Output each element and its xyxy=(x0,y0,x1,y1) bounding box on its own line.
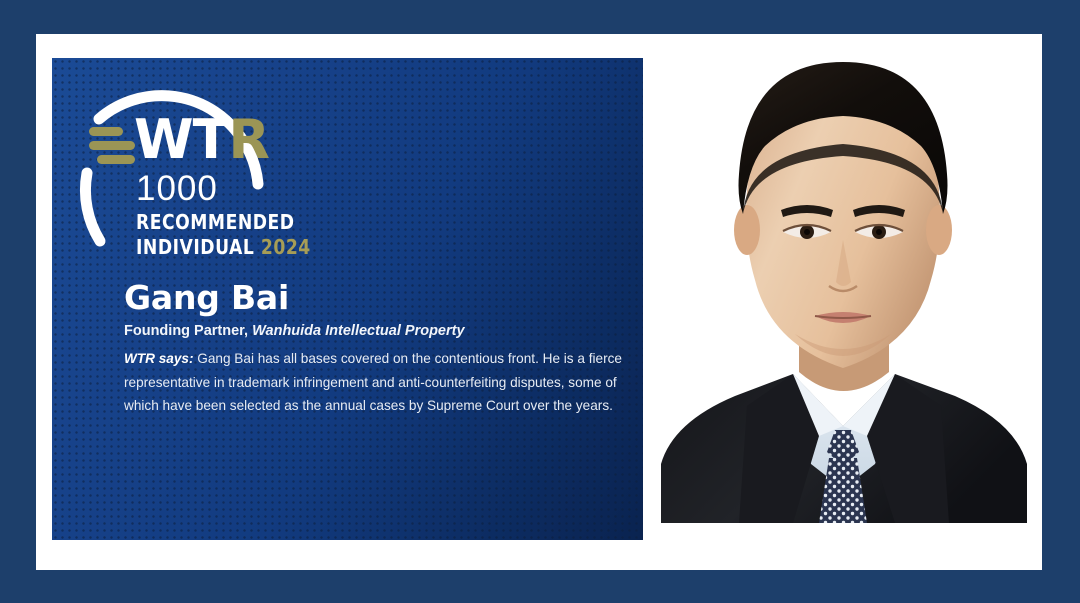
profile-name: Gang Bai xyxy=(124,280,624,316)
profile-quote-label: WTR says: xyxy=(124,351,194,366)
profile-block: Gang Bai Founding Partner, Wanhuida Inte… xyxy=(124,280,624,417)
logo-year: 2024 xyxy=(261,235,311,259)
portrait-photo xyxy=(643,34,1042,523)
profile-quote: WTR says: Gang Bai has all bases covered… xyxy=(124,347,624,417)
white-card-mat: WTR 1000 RECOMMENDED INDIVIDUAL 2024 Gan… xyxy=(36,34,1042,570)
profile-role-prefix: Founding Partner, xyxy=(124,323,248,339)
portrait-illustration xyxy=(643,34,1042,523)
logo-rank: 1000 xyxy=(136,171,218,206)
logo-recommended-label: RECOMMENDED xyxy=(136,210,295,236)
logo-individual-label: INDIVIDUAL 2024 xyxy=(136,235,311,261)
wtr-award-logo: WTR 1000 RECOMMENDED INDIVIDUAL 2024 xyxy=(68,80,308,285)
logo-wordmark-wt: WT xyxy=(134,108,228,171)
logo-individual-text: INDIVIDUAL xyxy=(136,235,254,259)
info-panel: WTR 1000 RECOMMENDED INDIVIDUAL 2024 Gan… xyxy=(52,58,643,540)
profile-firm: Wanhuida Intellectual Property xyxy=(252,323,464,339)
profile-role: Founding Partner, Wanhuida Intellectual … xyxy=(124,322,624,342)
logo-bars-icon xyxy=(89,127,135,165)
profile-quote-text: Gang Bai has all bases covered on the co… xyxy=(124,351,622,413)
award-poster: WTR 1000 RECOMMENDED INDIVIDUAL 2024 Gan… xyxy=(0,0,1080,603)
logo-wordmark-r: R xyxy=(228,108,269,171)
logo-wordmark: WTR xyxy=(134,113,269,167)
